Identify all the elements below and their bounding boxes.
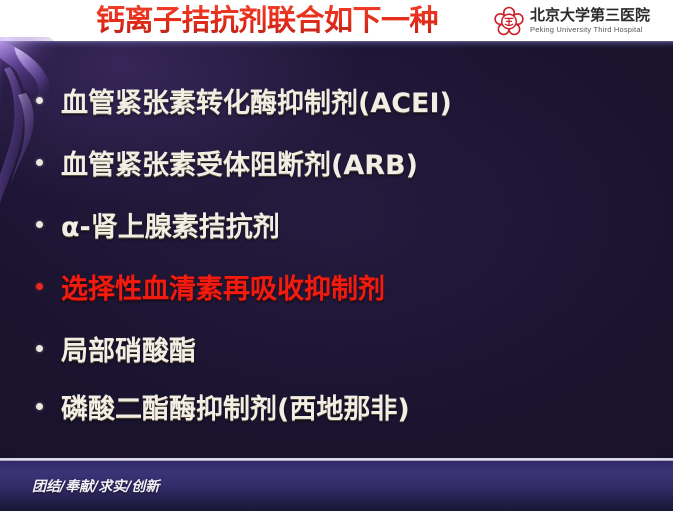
list-item-label: α-肾上腺素拮抗剂	[61, 205, 280, 244]
list-item: 血管紧张素转化酶抑制剂(ACEI)	[36, 83, 452, 117]
bullet-dot-icon	[36, 283, 43, 290]
slide-header: 钙离子拮抗剂联合如下一种	[0, 0, 673, 41]
bullet-dot-icon	[36, 159, 43, 166]
list-item-label: 血管紧张素受体阻断剂(ARB)	[61, 143, 418, 182]
bullet-dot-icon	[36, 403, 43, 410]
hospital-name-block: 北京大学第三医院 Peking University Third Hospita…	[530, 8, 650, 34]
list-item: 血管紧张素受体阻断剂(ARB)	[36, 145, 418, 179]
bullet-dot-icon	[36, 345, 43, 352]
list-item-label: 血管紧张素转化酶抑制剂(ACEI)	[61, 81, 452, 120]
slide-body: 血管紧张素转化酶抑制剂(ACEI) 血管紧张素受体阻断剂(ARB) α-肾上腺素…	[0, 41, 673, 458]
hospital-name-cn: 北京大学第三医院	[530, 8, 650, 23]
hospital-logo: 北京大学第三医院 Peking University Third Hospita…	[494, 3, 672, 39]
footer-motto: 团结/奉献/求实/创新	[32, 476, 159, 496]
list-item: 磷酸二酯酶抑制剂(西地那非)	[36, 389, 410, 423]
list-item: α-肾上腺素拮抗剂	[36, 207, 280, 241]
list-item-label: 局部硝酸酯	[61, 329, 196, 368]
list-item-label: 磷酸二酯酶抑制剂(西地那非)	[61, 387, 410, 426]
bullet-dot-icon	[36, 221, 43, 228]
bullet-list: 血管紧张素转化酶抑制剂(ACEI) 血管紧张素受体阻断剂(ARB) α-肾上腺素…	[0, 41, 673, 458]
list-item: 局部硝酸酯	[36, 331, 196, 365]
slide-footer: 团结/奉献/求实/创新	[0, 458, 673, 511]
plum-blossom-emblem-icon	[494, 6, 524, 36]
bullet-dot-icon	[36, 97, 43, 104]
list-item-label: 选择性血清素再吸收抑制剂	[61, 267, 385, 306]
slide-title: 钙离子拮抗剂联合如下一种	[96, 2, 466, 38]
hospital-name-en: Peking University Third Hospital	[530, 26, 650, 34]
presentation-slide: 钙离子拮抗剂联合如下一种	[0, 0, 673, 511]
list-item-highlighted: 选择性血清素再吸收抑制剂	[36, 269, 385, 303]
